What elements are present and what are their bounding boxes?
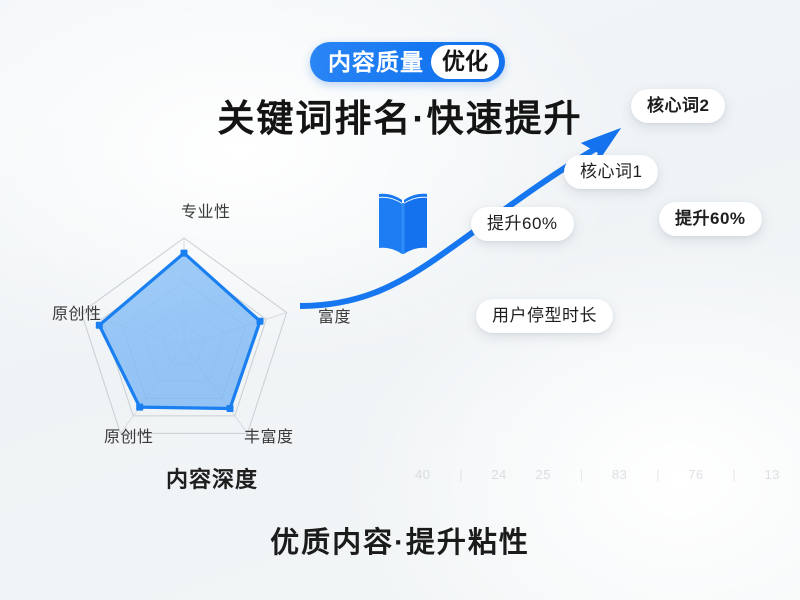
ruler-mark: 13 — [765, 467, 780, 482]
chip-core-keyword-2[interactable]: 核心词2 — [631, 89, 725, 123]
chip-uplift-right[interactable]: 提升60% — [659, 202, 762, 236]
chip-uplift-left[interactable]: 提升60% — [471, 207, 574, 241]
content-quality-badge[interactable]: 内容质量 优化 — [310, 42, 505, 82]
ruler-mark: 83 — [612, 467, 627, 482]
ruler-mark: 76 — [688, 467, 703, 482]
radar-axis-label-bottom-right: 丰富度 — [244, 423, 294, 447]
ruler-mark: 24 — [491, 467, 506, 482]
radar-axis-label-top: 专业性 — [181, 198, 231, 222]
faint-ruler-strip: 40 | 24 25 | 83 | 76 | 13 — [415, 463, 780, 485]
poster-canvas: 内容质量 优化 关键词排名·快速提升 — [0, 0, 800, 600]
ruler-tick: | — [459, 467, 462, 482]
ruler-tick: | — [656, 467, 659, 482]
ruler-tick: | — [732, 467, 735, 482]
radar-axis-label-left: 原创性 — [52, 300, 102, 324]
badge-main-label: 内容质量 — [328, 51, 424, 74]
bottom-caption: 优质内容·提升粘性 — [0, 519, 800, 561]
chip-core-keyword-1[interactable]: 核心词1 — [564, 155, 658, 189]
open-book-icon — [373, 186, 433, 264]
content-depth-label: 内容深度 — [166, 462, 258, 494]
ruler-mark: 25 — [536, 467, 551, 482]
ruler-tick: | — [580, 467, 583, 482]
badge-chip-label: 优化 — [431, 45, 499, 79]
ruler-mark: 40 — [415, 467, 430, 482]
radar-axis-label-bottom-left: 原创性 — [104, 423, 154, 447]
chip-user-dwell-time[interactable]: 用户停型时长 — [476, 299, 613, 333]
